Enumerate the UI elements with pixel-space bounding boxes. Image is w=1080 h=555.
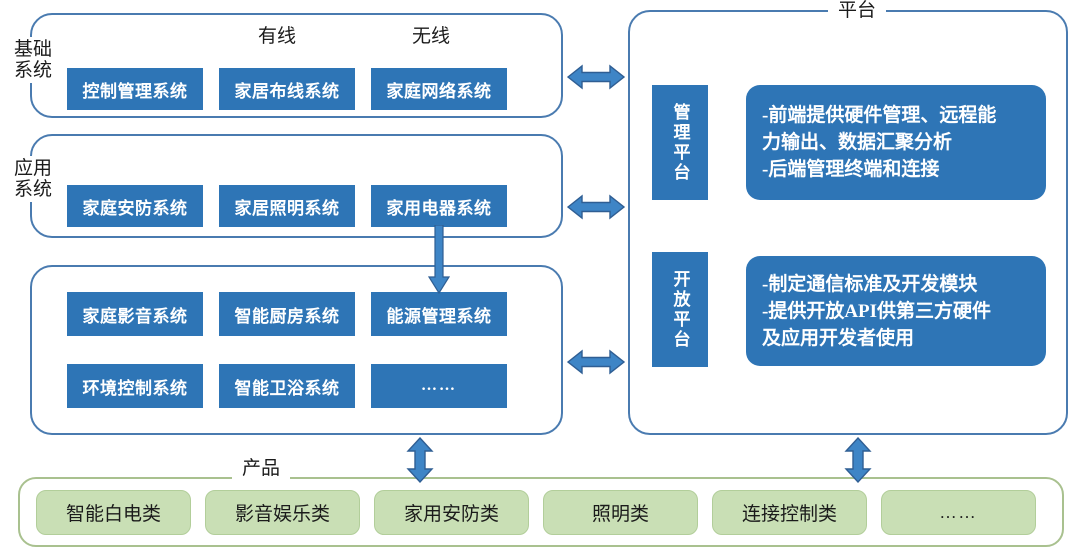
basic-system-item[interactable]: 控制管理系统 (67, 68, 203, 110)
product-item[interactable]: 家用安防类 (374, 490, 529, 535)
extended-system-item[interactable]: 能源管理系统 (371, 292, 507, 336)
application-system-item[interactable]: 家居照明系统 (219, 185, 355, 227)
arrow-application-to-platform (566, 192, 626, 222)
extended-system-item[interactable]: …… (371, 364, 507, 408)
platform-chip-management[interactable]: 管理平台 (652, 85, 708, 200)
arrow-extended-to-platform (566, 347, 626, 377)
basic-system-item[interactable]: 家庭网络系统 (371, 68, 507, 110)
platform-panel-open: -制定通信标准及开发模块 -提供开放API供第三方硬件 及应用开发者使用 (746, 256, 1046, 366)
platform-title: 平台 (828, 0, 886, 22)
basic-system-label: 基础 系统 (2, 37, 64, 83)
product-item[interactable]: 照明类 (543, 490, 698, 535)
product-item[interactable]: 影音娱乐类 (205, 490, 360, 535)
extended-system-item[interactable]: 智能卫浴系统 (219, 364, 355, 408)
platform-group (628, 10, 1068, 435)
arrow-application-down-to-extended (427, 225, 451, 295)
product-item[interactable]: …… (881, 490, 1036, 535)
basic-system-item[interactable]: 家居布线系统 (219, 68, 355, 110)
application-system-label: 应用 系统 (2, 156, 64, 202)
arrow-platform-to-product (843, 437, 873, 483)
arrow-systems-to-product (405, 437, 435, 483)
platform-chip-open[interactable]: 开放平台 (652, 252, 708, 367)
extended-system-item[interactable]: 环境控制系统 (67, 364, 203, 408)
wireless-label: 无线 (412, 27, 450, 47)
extended-system-group (30, 265, 563, 435)
wired-label: 有线 (258, 27, 296, 47)
product-item[interactable]: 智能白电类 (36, 490, 191, 535)
application-system-item[interactable]: 家庭安防系统 (67, 185, 203, 227)
extended-system-item[interactable]: 智能厨房系统 (219, 292, 355, 336)
application-system-item[interactable]: 家用电器系统 (371, 185, 507, 227)
platform-panel-management: -前端提供硬件管理、远程能 力输出、数据汇聚分析 -后端管理终端和连接 (746, 85, 1046, 200)
product-item[interactable]: 连接控制类 (712, 490, 867, 535)
extended-system-item[interactable]: 家庭影音系统 (67, 292, 203, 336)
diagram-canvas: 基础 系统 有线 无线 控制管理系统 家居布线系统 家庭网络系统 应用 系统 家… (0, 0, 1080, 555)
product-title: 产品 (232, 458, 290, 480)
arrow-basic-to-platform (566, 62, 626, 92)
